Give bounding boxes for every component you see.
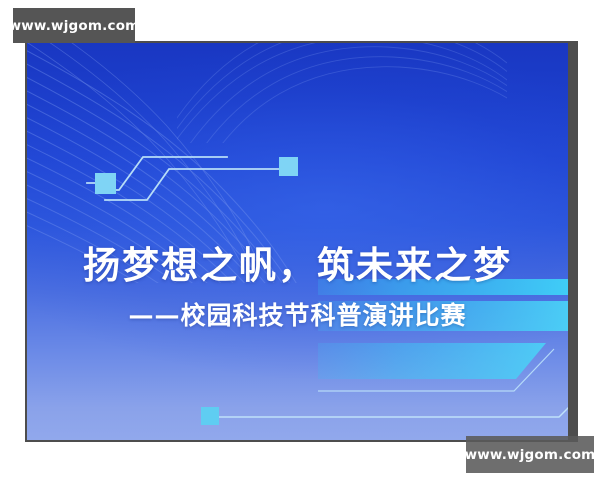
presentation-slide[interactable]: 扬梦想之帆，筑未来之梦 ——校园科技节科普演讲比赛 <box>27 43 568 440</box>
page-canvas: 扬梦想之帆，筑未来之梦 ——校园科技节科普演讲比赛 www.wjgom.com … <box>0 0 600 480</box>
watermark-top-left: www.wjgom.com <box>13 8 135 43</box>
slide-background-glow <box>27 43 568 440</box>
watermark-bottom-right: www.wjgom.com <box>466 436 594 473</box>
